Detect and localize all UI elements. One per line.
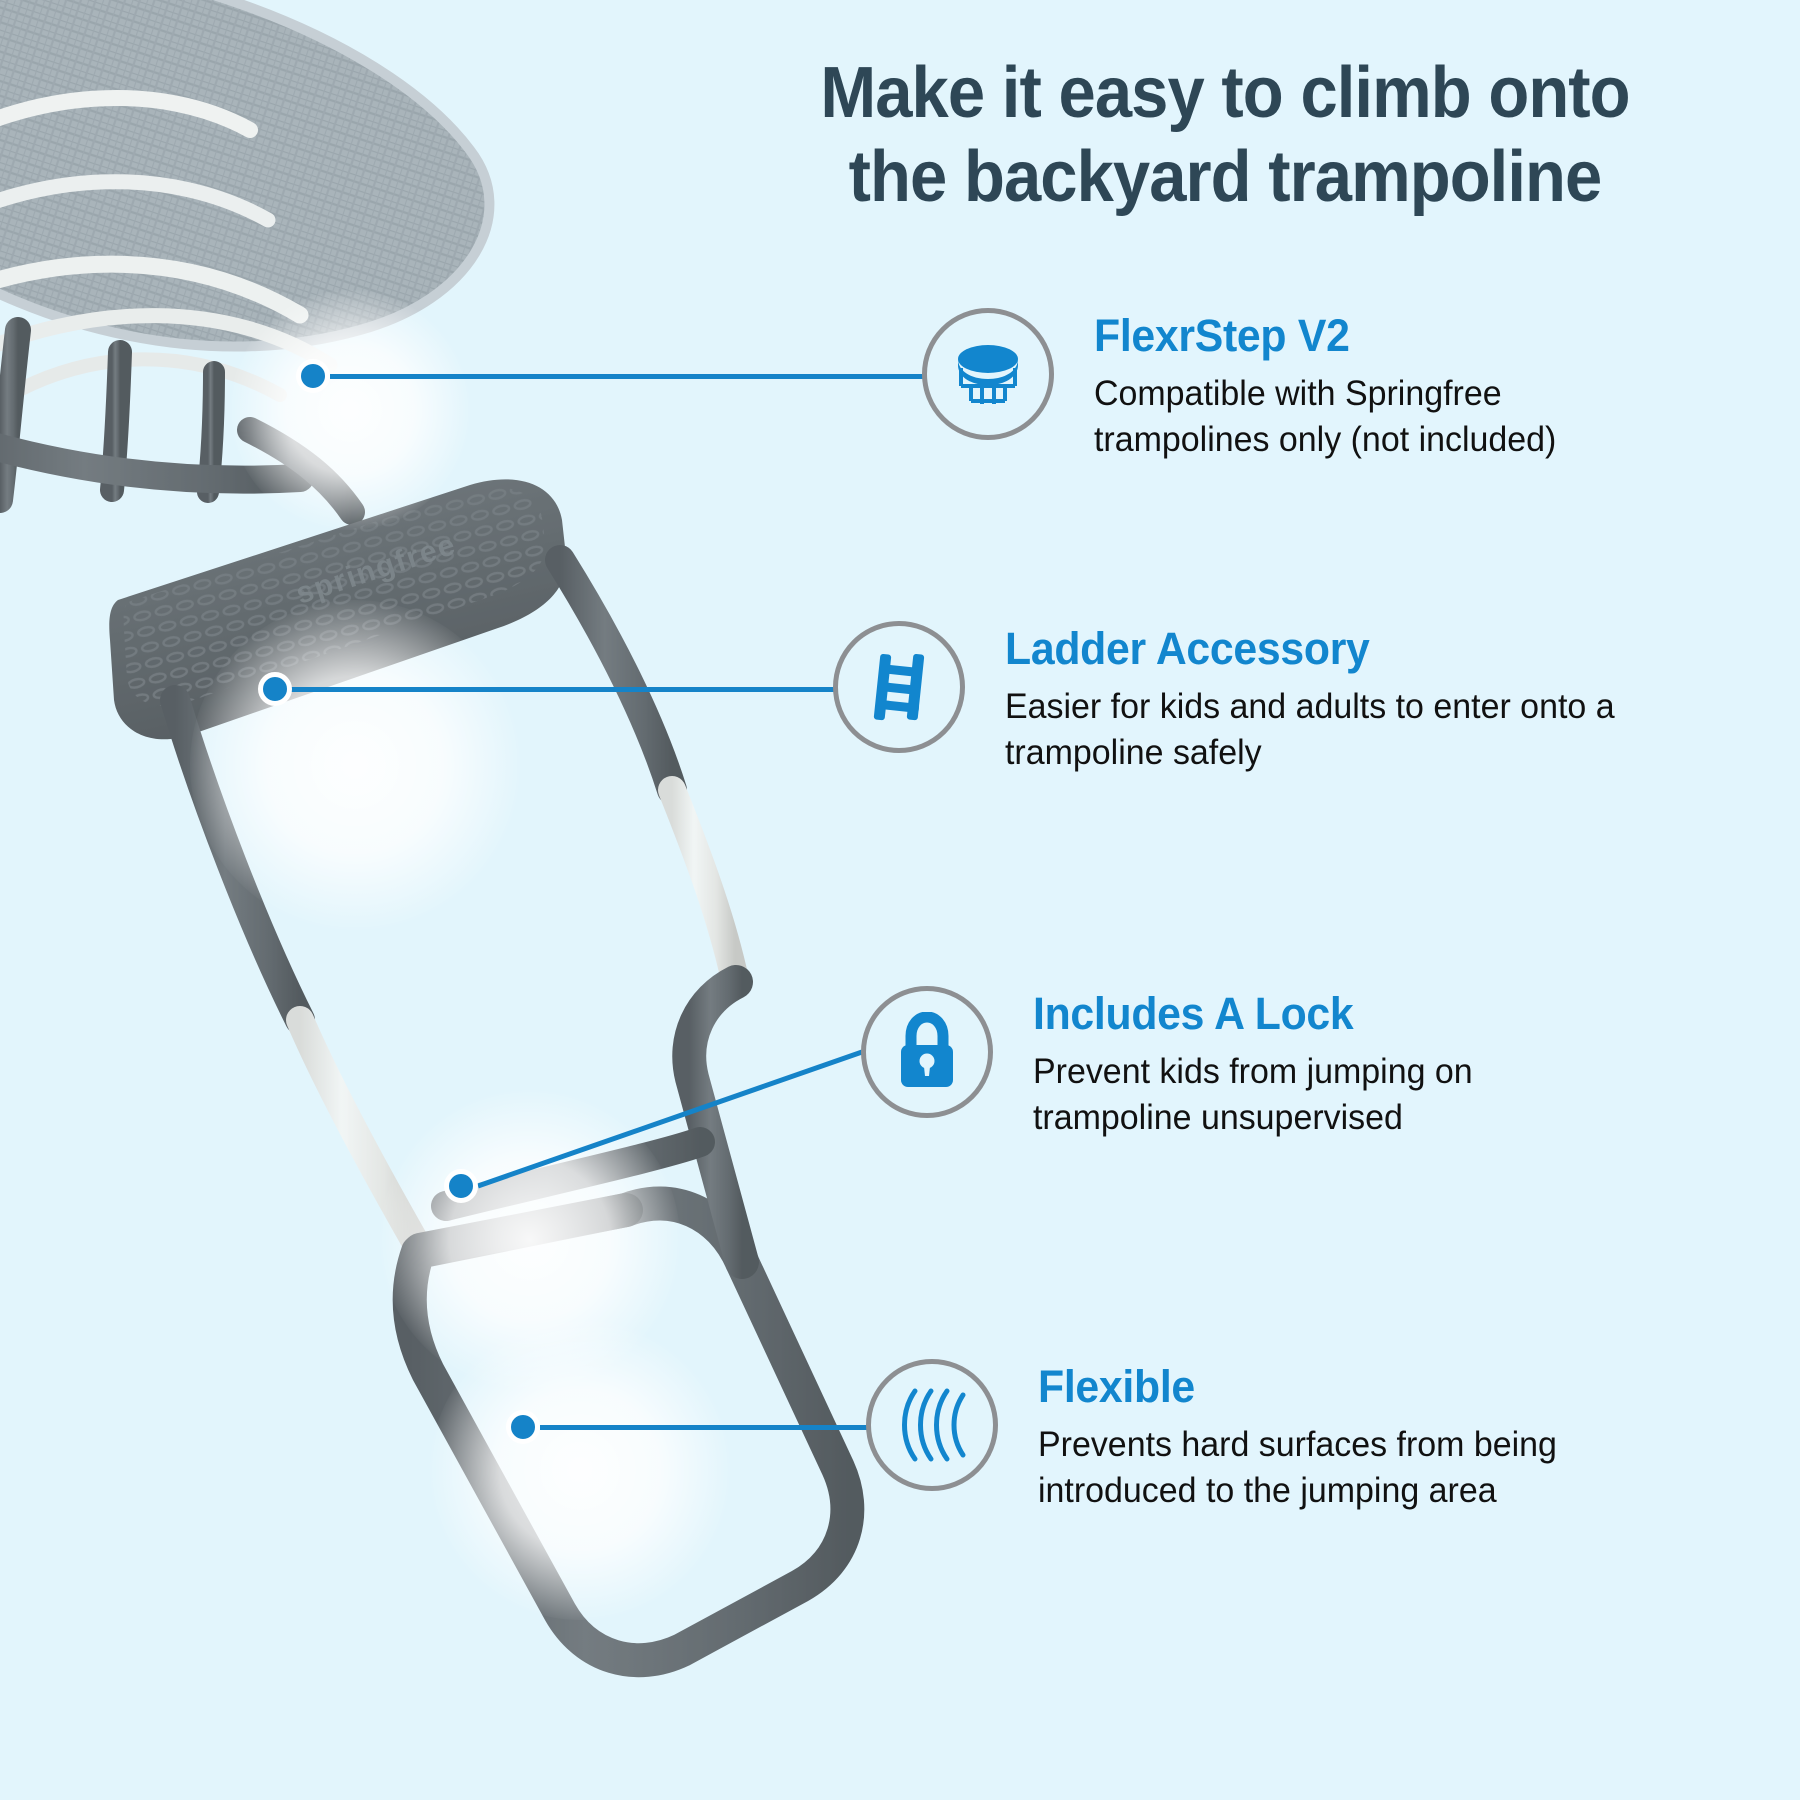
feature-heading-flexrstep-v2: FlexrStep V2: [1094, 312, 1547, 359]
icon-circle-flexible: [866, 1359, 998, 1491]
feature-text-ladder-accessory: Ladder Accessory Easier for kids and adu…: [1005, 621, 1633, 777]
feature-body-line-1: Compatible with Springfree: [1094, 371, 1556, 417]
feature-includes-a-lock: Includes A Lock Prevent kids from jumpin…: [861, 986, 1486, 1142]
ladder-icon: [863, 648, 935, 726]
connector-line-3: [478, 1052, 862, 1186]
connector-line-4: [540, 1425, 870, 1430]
callout-dot-4[interactable]: [506, 1410, 540, 1444]
feature-body-line-2: trampoline safely: [1005, 730, 1615, 776]
feature-flexrstep-v2: FlexrStep V2 Compatible with Springfree …: [922, 308, 1571, 464]
feature-body-line-2: trampoline unsupervised: [1033, 1095, 1473, 1141]
feature-body-line-2: introduced to the jumping area: [1038, 1468, 1557, 1514]
feature-text-flexrstep-v2: FlexrStep V2 Compatible with Springfree …: [1094, 308, 1571, 464]
feature-text-flexible: Flexible Prevents hard surfaces from bei…: [1038, 1359, 1573, 1515]
icon-circle-includes-a-lock: [861, 986, 993, 1118]
feature-body-flexible: Prevents hard surfaces from being introd…: [1038, 1422, 1557, 1514]
connector-line-3-wrap: [0, 0, 1800, 1800]
feature-body-line-2: trampolines only (not included): [1094, 417, 1556, 463]
lock-icon: [895, 1012, 959, 1092]
trampoline-icon: [949, 338, 1027, 410]
feature-heading-includes-a-lock: Includes A Lock: [1033, 990, 1464, 1037]
feature-flexible: Flexible Prevents hard surfaces from bei…: [866, 1359, 1573, 1515]
flex-lines-icon: [895, 1385, 969, 1465]
feature-text-includes-a-lock: Includes A Lock Prevent kids from jumpin…: [1033, 986, 1486, 1142]
feature-body-flexrstep-v2: Compatible with Springfree trampolines o…: [1094, 371, 1556, 463]
callout-dot-3[interactable]: [444, 1169, 478, 1203]
feature-heading-flexible: Flexible: [1038, 1363, 1546, 1410]
feature-body-line-1: Easier for kids and adults to enter onto…: [1005, 684, 1615, 730]
feature-heading-ladder-accessory: Ladder Accessory: [1005, 625, 1602, 672]
feature-body-includes-a-lock: Prevent kids from jumping on trampoline …: [1033, 1049, 1473, 1141]
feature-body-line-1: Prevents hard surfaces from being: [1038, 1422, 1557, 1468]
feature-ladder-accessory: Ladder Accessory Easier for kids and adu…: [833, 621, 1633, 777]
icon-circle-ladder-accessory: [833, 621, 965, 753]
icon-circle-flexrstep-v2: [922, 308, 1054, 440]
feature-body-ladder-accessory: Easier for kids and adults to enter onto…: [1005, 684, 1615, 776]
feature-body-line-1: Prevent kids from jumping on: [1033, 1049, 1473, 1095]
